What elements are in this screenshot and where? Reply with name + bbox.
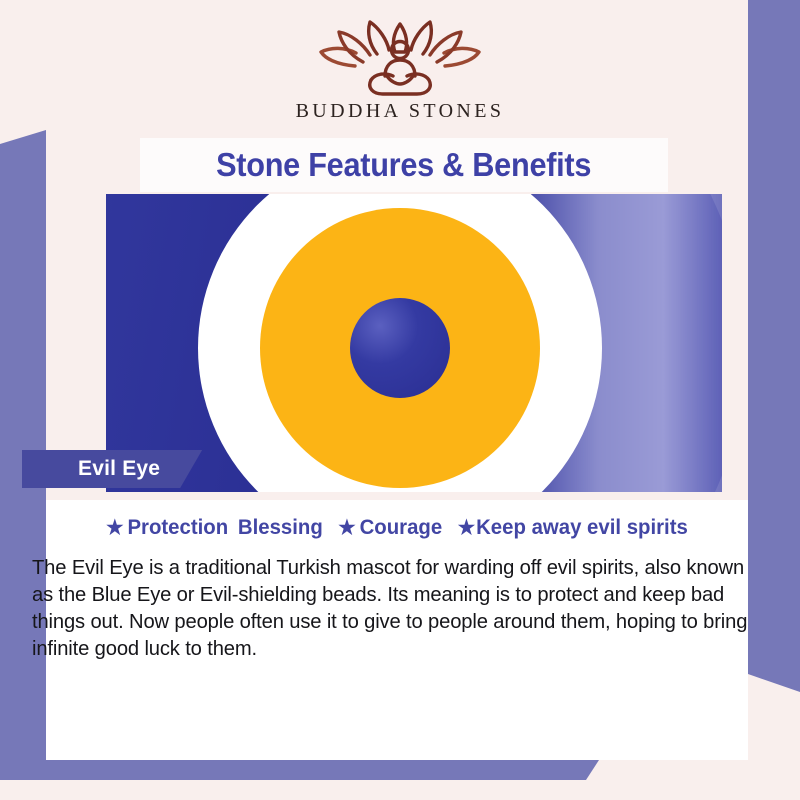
- benefit-courage: ★ Courage: [338, 516, 442, 540]
- benefits-row: ★ Protection Blessing ★ Courage ★ Keep a…: [57, 516, 738, 540]
- description-card: ★ Protection Blessing ★ Courage ★ Keep a…: [46, 500, 748, 760]
- bead-pupil: [350, 298, 450, 398]
- lotus-meditation-logo-icon: [315, 14, 485, 98]
- brand-name: BUDDHA STONES: [230, 100, 570, 123]
- benefit-label: Protection: [127, 516, 228, 540]
- brand-logo: BUDDHA STONES: [230, 14, 570, 123]
- star-icon: ★: [458, 518, 475, 538]
- benefit-label: Keep away evil spirits: [476, 516, 688, 540]
- description-text: The Evil Eye is a traditional Turkish ma…: [32, 554, 761, 662]
- stone-name-banner: Evil Eye: [22, 450, 202, 488]
- benefit-label: Courage: [360, 516, 443, 540]
- star-icon: ★: [338, 518, 355, 538]
- benefit-label: Blessing: [238, 516, 323, 540]
- evil-eye-hero-image: [106, 194, 722, 492]
- section-title-bar: Stone Features & Benefits: [140, 138, 668, 192]
- brand-header: BUDDHA STONES: [0, 0, 800, 140]
- star-icon: ★: [106, 518, 123, 538]
- benefit-keep-away-evil-spirits: ★ Keep away evil spirits: [458, 516, 688, 540]
- benefit-protection: ★ Protection: [106, 516, 228, 540]
- benefit-blessing: Blessing: [238, 516, 323, 540]
- page-title: Stone Features & Benefits: [216, 146, 591, 184]
- stone-name-label: Evil Eye: [78, 457, 160, 481]
- infographic-page: BUDDHA STONES Stone Features & Benefits …: [0, 0, 800, 800]
